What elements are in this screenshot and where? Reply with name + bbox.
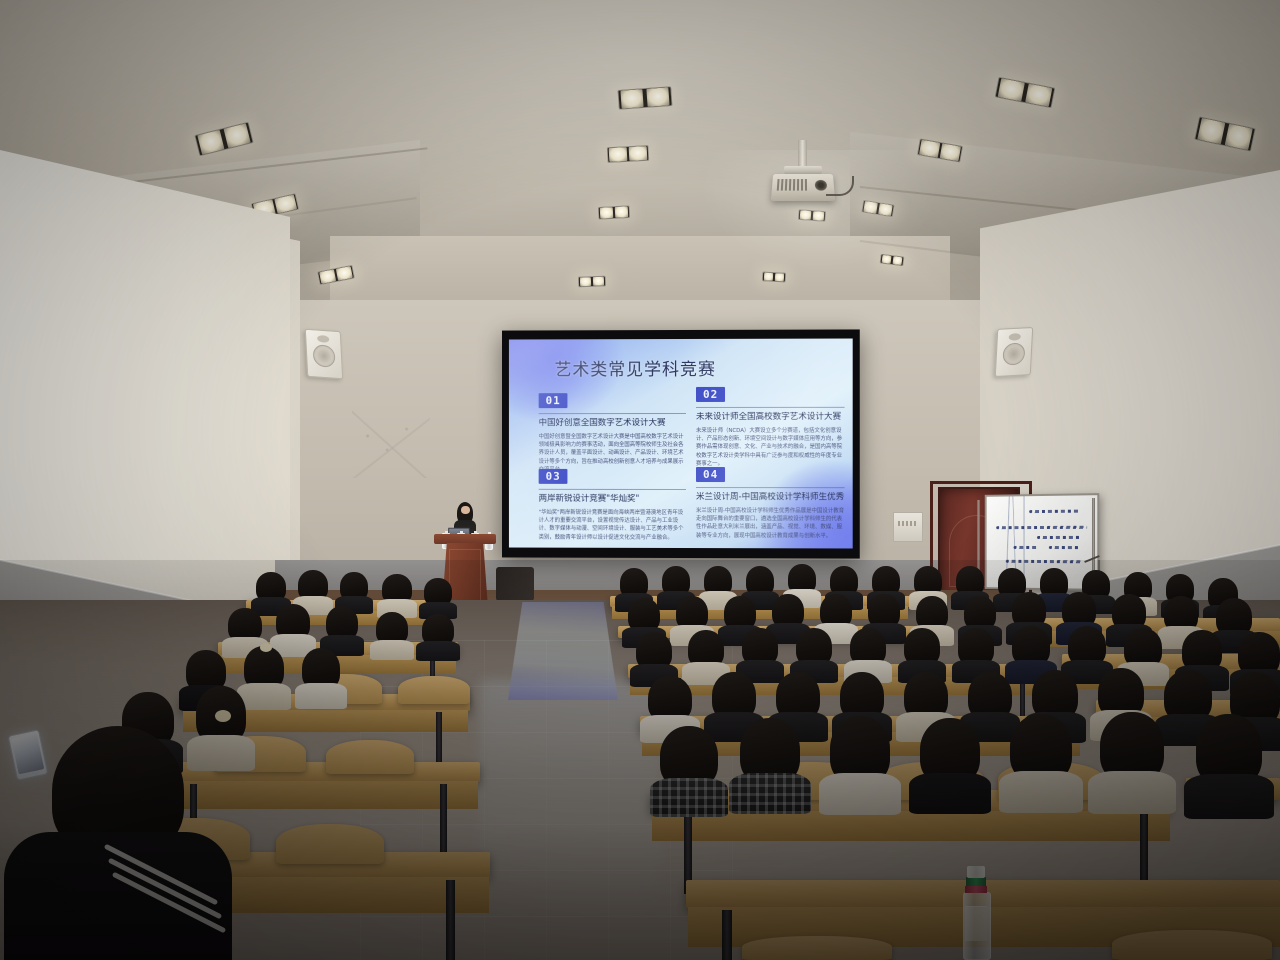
section-number: 01 [539, 393, 568, 408]
wall-speaker-left [305, 329, 343, 380]
section-heading: 两岸新锐设计竞赛"华灿奖" [539, 494, 686, 505]
whiteboard-handwriting [1029, 510, 1081, 514]
ceiling-light [578, 276, 606, 288]
student [422, 614, 454, 646]
student [740, 718, 800, 784]
section-rule [539, 413, 686, 414]
bottle-label [965, 906, 987, 941]
lecture-hall-photo: 艺术类常见学科竞赛 01 中国好创意全国数字艺术设计大赛 中国好创意暨全国数字艺… [0, 0, 1280, 960]
student [228, 608, 262, 642]
bottle-cap [967, 866, 985, 878]
student [662, 566, 690, 596]
student [676, 596, 708, 630]
desk-front-panel [652, 811, 1170, 841]
section-number: 04 [696, 467, 725, 482]
mineral-water-bottle [962, 866, 990, 958]
student [276, 604, 310, 640]
student [302, 648, 340, 690]
slide-section-02: 02 未来设计师全国高校数字艺术设计大赛 未来设计师（NCDA）大赛设立多个分赛… [696, 385, 845, 469]
whiteboard-handwriting [996, 526, 1087, 529]
student [742, 628, 778, 666]
student [1068, 626, 1106, 666]
section-number: 02 [696, 387, 725, 402]
student [746, 566, 774, 596]
lectern-top [434, 534, 496, 544]
student [1010, 714, 1072, 782]
student [958, 628, 994, 666]
slide-section-01: 01 中国好创意全国数字艺术设计大赛 中国好创意暨全国数字艺术设计大赛是中国高校… [539, 391, 686, 475]
section-rule [539, 489, 686, 490]
student [868, 594, 900, 628]
student [1062, 592, 1096, 628]
ceiling-light [607, 145, 650, 163]
student [840, 672, 884, 720]
ceiling-light [598, 205, 631, 220]
student [1100, 712, 1164, 782]
student [796, 628, 832, 666]
section-body: 米兰设计周-中国高校设计学科师生优秀作品展是中国设计教育走向国际舞台的重要窗口，… [696, 507, 845, 541]
chair-back [276, 824, 384, 864]
student [1012, 626, 1050, 666]
section-body: "华灿奖"两岸新锐设计竞赛是面向海峡两岸暨港澳地区青年设计人才的重要交流平台，设… [539, 508, 686, 542]
chair-back [742, 936, 892, 960]
student [688, 630, 724, 668]
student [788, 564, 816, 594]
desk-leg [446, 880, 455, 960]
wall-control-panel[interactable] [893, 512, 923, 542]
foreground-student [20, 726, 220, 960]
student [904, 628, 940, 666]
student [298, 570, 328, 601]
student [830, 566, 858, 596]
student [904, 672, 948, 720]
hair-scrunchie [215, 710, 231, 722]
student [1124, 628, 1162, 668]
student [1112, 594, 1146, 630]
student [424, 578, 452, 606]
student [820, 594, 852, 628]
student [830, 716, 890, 784]
desk-leg [440, 784, 447, 856]
section-heading: 中国好创意全国数字艺术设计大赛 [539, 418, 686, 429]
student [244, 646, 284, 690]
chair-back [496, 567, 534, 601]
section-rule [696, 487, 845, 488]
projector-vent [777, 179, 807, 191]
student [376, 612, 408, 645]
student [326, 606, 358, 640]
bottle-neck-band-red [965, 886, 987, 893]
desk-leg [722, 910, 732, 960]
student [850, 628, 886, 666]
student [776, 672, 820, 720]
chair-back [326, 740, 414, 774]
student [968, 672, 1012, 720]
student [1098, 668, 1144, 718]
student [916, 596, 948, 630]
student [256, 572, 286, 602]
student [636, 632, 672, 670]
section-heading: 米兰设计周-中国高校设计学科师生优秀作品 [696, 492, 845, 503]
presentation-slide: 艺术类常见学科竞赛 01 中国好创意全国数字艺术设计大赛 中国好创意暨全国数字艺… [509, 339, 853, 549]
wall-scuff-marks [352, 408, 430, 478]
student [1164, 596, 1198, 632]
student [914, 566, 942, 596]
student [956, 566, 984, 596]
student [620, 568, 648, 598]
projector-mount-plate [784, 166, 822, 174]
slide-section-03: 03 两岸新锐设计竞赛"华灿奖" "华灿奖"两岸新锐设计竞赛是面向海峡两岸暨港澳… [539, 467, 686, 542]
whiteboard-handwriting [1006, 560, 1081, 563]
student [1238, 632, 1280, 676]
whiteboard-handwriting [1049, 546, 1079, 549]
student [1012, 592, 1046, 628]
student [1196, 714, 1262, 786]
ceiling-light [617, 86, 672, 110]
desk-leg [436, 712, 442, 766]
student [648, 676, 692, 722]
section-heading: 未来设计师全国高校数字艺术设计大赛 [696, 412, 845, 423]
whiteboard-handwriting [1037, 536, 1081, 539]
student [660, 726, 718, 788]
student [920, 718, 980, 784]
student [1182, 630, 1222, 672]
slide-title: 艺术类常见学科竞赛 [555, 355, 716, 380]
student [340, 572, 368, 601]
ceiling-light [762, 271, 786, 282]
wall-speaker-right [995, 327, 1033, 377]
section-body: 未来设计师（NCDA）大赛设立多个分赛道，包括文化创意设计、产品形态创新、环境空… [696, 427, 845, 469]
student [382, 574, 412, 604]
student [712, 672, 756, 720]
whiteboard-handwriting [1014, 546, 1039, 549]
slide-section-04: 04 米兰设计周-中国高校设计学科师生优秀作品 米兰设计周-中国高校设计学科师生… [696, 465, 845, 541]
chair-back [398, 676, 470, 704]
student [964, 596, 996, 630]
chair-back [1112, 930, 1272, 960]
section-rule [696, 407, 845, 408]
student [772, 594, 804, 628]
student [704, 566, 732, 596]
student [724, 596, 756, 630]
hair-scrunchie [260, 643, 272, 652]
section-number: 03 [539, 469, 568, 484]
student [1032, 670, 1078, 720]
projection-screen: 艺术类常见学科竞赛 01 中国好创意全国数字艺术设计大赛 中国好创意暨全国数字艺… [502, 329, 860, 558]
student [628, 598, 660, 632]
student [872, 566, 900, 596]
